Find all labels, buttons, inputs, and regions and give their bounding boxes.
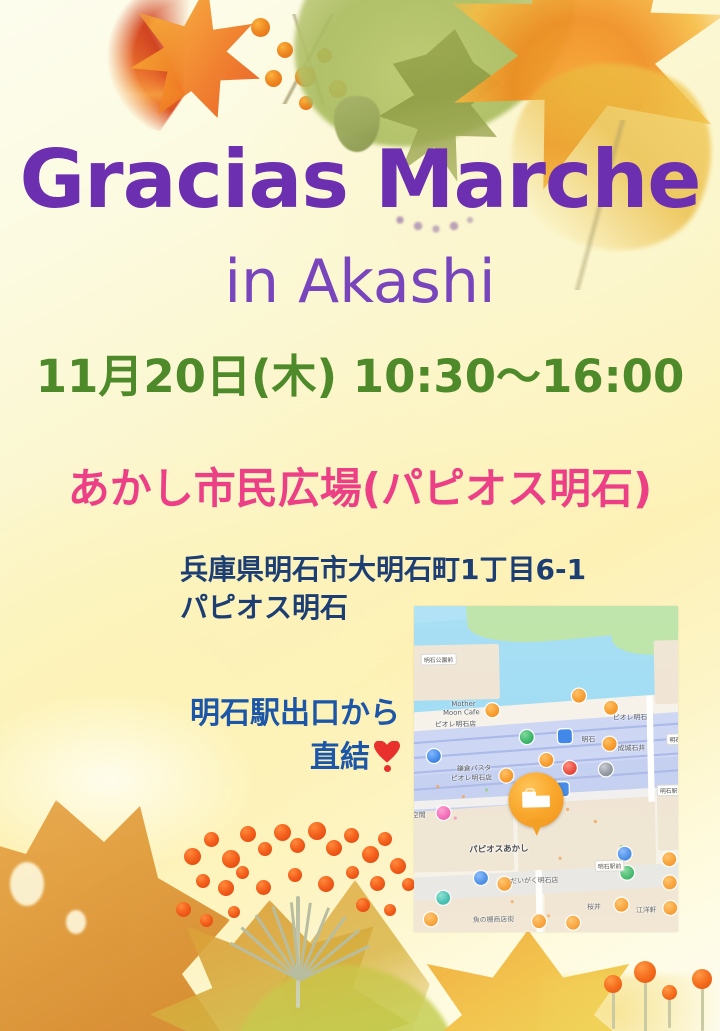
berry — [662, 985, 677, 1000]
map-label: ピオレ明石店 — [451, 771, 493, 782]
berry — [274, 824, 291, 841]
event-date-time: 11月20日(木) 10:30〜16:00 — [0, 354, 720, 399]
olive-gold-leaf-bottom-icon — [150, 900, 410, 1031]
berry — [362, 846, 379, 863]
map-block — [414, 644, 500, 702]
map-destination-label: パピオスあかし — [469, 843, 529, 856]
berry — [634, 961, 656, 983]
map-label: 明石駅 — [666, 733, 678, 745]
map-label: だいがく明石店 — [510, 874, 558, 886]
access-line-2: 直結 — [310, 740, 370, 775]
berry — [390, 858, 406, 874]
berry — [204, 832, 219, 847]
leaf-hole-2 — [66, 910, 86, 934]
berry-cluster-bottom-right-icon — [600, 955, 720, 1031]
address-line-1: 兵庫県明石市大明石町1丁目6-1 — [180, 551, 586, 589]
yellow-maple-leaf-bottom-right-icon — [418, 930, 638, 1031]
berry-stem — [701, 987, 704, 1031]
map-destination-pin[interactable] — [508, 772, 564, 839]
berry — [370, 876, 385, 891]
map-label: 明石駅前 — [595, 860, 625, 872]
map-label: 桜井 — [587, 900, 601, 911]
map-station-icon[interactable] — [558, 729, 572, 743]
map-label: Moon Cafe — [443, 708, 480, 717]
berry — [222, 850, 240, 868]
page-title: Gracias Marche — [0, 140, 720, 220]
berry-stem — [255, 915, 301, 981]
heart-exclamation-icon — [374, 741, 400, 771]
green-leaf-bottom-icon — [230, 965, 460, 1031]
berry-cluster-top-left-icon — [243, 8, 393, 118]
berry — [184, 848, 201, 865]
berry — [218, 880, 234, 896]
berry — [378, 832, 392, 846]
map-label: ピオレ明石 — [613, 711, 648, 722]
berry — [326, 840, 342, 856]
soft-glow-bottom-right — [540, 975, 720, 1031]
leaf-hole-1 — [10, 862, 44, 906]
berry — [196, 874, 210, 888]
page-subtitle: in Akashi — [0, 252, 720, 312]
map-label: 明石駅前 — [657, 784, 678, 796]
berry — [318, 876, 334, 892]
berry-stem — [298, 907, 330, 980]
berry-umbel-bottom-left-icon — [170, 818, 450, 1008]
map-label: 魚の棚商店街 — [473, 913, 515, 924]
access-info: 明石駅出口から 直結 — [130, 692, 400, 779]
maple-leaf-top-left-2-icon — [111, 0, 278, 140]
map-block — [414, 805, 514, 873]
access-line-2-wrap: 直結 — [130, 736, 400, 780]
berry — [236, 866, 249, 879]
berry — [384, 904, 396, 916]
berry-stem — [668, 998, 671, 1028]
berry — [228, 906, 240, 918]
berry — [356, 898, 370, 912]
berry — [288, 868, 302, 882]
map-label: ピオレ明石店 — [435, 717, 477, 728]
berry — [604, 975, 622, 993]
berry — [346, 866, 359, 879]
berry-stem — [298, 916, 346, 981]
amber-leaf-bottom-icon — [280, 880, 430, 1031]
berry-stem — [298, 929, 359, 981]
map-label: 遊空間 — [414, 809, 426, 820]
berry — [344, 828, 359, 843]
berry — [176, 902, 191, 917]
berry-stem — [290, 902, 301, 980]
berry-stem — [298, 903, 311, 981]
berry — [200, 914, 213, 927]
berry-stem — [612, 991, 615, 1029]
berry-stem-top-left-icon — [250, 14, 370, 104]
berry — [308, 822, 326, 840]
venue-map[interactable]: パピオスあかし 明石公園前MotherMoon Cafeピオレ明石店ピオレ明石明… — [414, 606, 678, 932]
berry-stem — [240, 927, 300, 981]
map-block — [654, 639, 678, 705]
venue-name: あかし市民広場(パピオス明石) — [0, 468, 720, 510]
berry-stem — [644, 981, 647, 1031]
berry — [256, 880, 271, 895]
map-label: 成城石井 — [618, 741, 646, 752]
berry — [240, 826, 256, 842]
berry — [258, 842, 272, 856]
access-line-1: 明石駅出口から — [190, 696, 400, 731]
map-block — [657, 793, 678, 850]
map-label: 明石 — [581, 733, 595, 744]
map-label: 明石公園前 — [421, 653, 457, 665]
poster-root: Gracias Marche in Akashi 11月20日(木) 10:30… — [0, 0, 720, 1031]
berry-stem — [230, 942, 300, 981]
map-label: 江洋軒 — [636, 903, 657, 914]
berry — [692, 969, 712, 989]
map-canvas: パピオスあかし 明石公園前MotherMoon Cafeピオレ明石店ピオレ明石明… — [414, 606, 678, 932]
golden-leaf-bottom-left-icon — [0, 800, 230, 1031]
berry-stem — [299, 945, 370, 981]
berry — [290, 838, 305, 853]
berry-stem — [271, 906, 300, 980]
